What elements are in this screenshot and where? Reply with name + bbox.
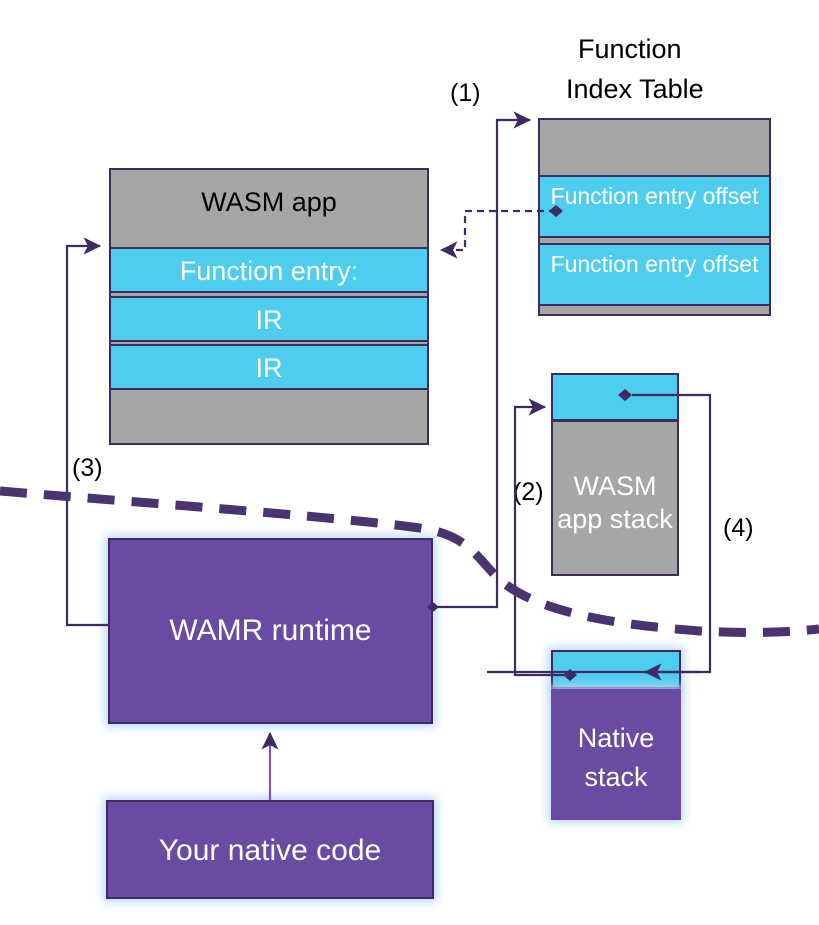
wasm-app-row-ir-1[interactable]: IR — [109, 344, 429, 390]
wasm-app-row-ir-0[interactable]: IR — [109, 296, 429, 342]
step-label-3: (3) — [72, 453, 103, 483]
wamr-runtime-label: WAMR runtime — [110, 614, 431, 647]
step-label-4: (4) — [723, 513, 754, 543]
function-index-table-entry-0-label: Function entry offset — [540, 183, 769, 210]
step-label-1: (1) — [450, 78, 481, 108]
wamr-runtime-block: WAMR runtime — [108, 538, 433, 724]
native-stack-label-line2: stack — [551, 761, 681, 794]
wasm-app-row-function-entry[interactable]: Function entry: — [109, 247, 429, 293]
wasm-app-stack: WASM app stack — [551, 420, 679, 576]
step-label-2: (2) — [513, 477, 544, 507]
wasm-app-stack-label: WASM app stack — [553, 470, 677, 536]
function-index-table-entry-1-label: Function entry offset — [540, 251, 769, 278]
wasm-app-row-ir-0-label: IR — [111, 304, 427, 337]
native-stack-label-line1: Native — [551, 722, 681, 755]
function-index-table-entry-0[interactable]: Function entry offset — [538, 175, 771, 238]
native-code-block: Your native code — [106, 800, 434, 899]
native-code-label: Your native code — [108, 834, 432, 867]
wasm-app-title: WASM app — [111, 186, 427, 219]
wasm-app-stack-top-frame[interactable] — [551, 373, 679, 421]
native-stack: Native stack — [551, 689, 681, 820]
wasm-app-row-function-entry-label: Function entry: — [111, 255, 427, 288]
function-index-table-entry-1[interactable]: Function entry offset — [538, 243, 771, 306]
function-index-table-title-line1: Function — [578, 32, 682, 66]
diagram-canvas: Function Index Table (1) (2) (3) (4) Fun… — [0, 0, 819, 925]
native-stack-top-frame-border — [551, 650, 681, 689]
function-index-table-title-line2: Index Table — [566, 72, 704, 106]
connector-step-3 — [67, 246, 108, 625]
connector-step-1 — [427, 120, 530, 612]
wasm-app-row-ir-1-label: IR — [111, 352, 427, 385]
